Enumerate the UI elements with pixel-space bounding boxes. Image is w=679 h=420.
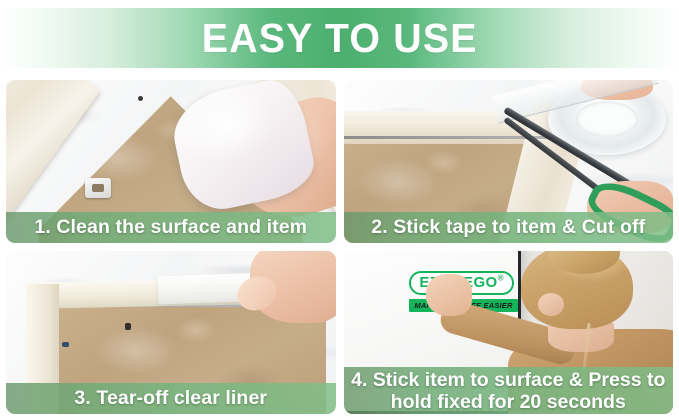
frame-nail-1 [125,323,131,330]
step-caption-1: 1. Clean the surface and item [6,212,336,243]
header-banner: EASY TO USE [0,8,679,68]
step-caption-3: 3. Tear-off clear liner [6,383,336,414]
step-panel-4: EZLIFEGO® MAKE YOUR LIFE EASIER 4. Stick… [344,251,674,414]
infographic-poster: EASY TO USE 1. Clean the surface and ite… [0,0,679,420]
step-panel-2: 2. Stick tape to item & Cut off [344,80,674,243]
step-panel-3: 3. Tear-off clear liner [6,251,336,414]
frame-hanger-hardware [85,178,111,198]
step-caption-4-line1: 4. Stick item to surface & Press to [351,369,665,391]
registered-mark-icon: ® [498,273,504,282]
step-caption-2: 2. Stick tape to item & Cut off [344,212,674,243]
step-panel-1: 1. Clean the surface and item [6,80,336,243]
steps-grid: 1. Clean the surface and item 2. Stick t… [6,80,673,414]
person-hand [426,274,472,316]
tape-roll-core [576,101,639,137]
page-title: EASY TO USE [202,18,478,59]
step-caption-4: 4. Stick item to surface & Press to hold… [344,367,674,414]
step-caption-4-line2: hold fixed for 20 seconds [351,391,665,413]
frame-glass-edge [344,136,548,139]
frame-nail-2 [62,342,69,347]
